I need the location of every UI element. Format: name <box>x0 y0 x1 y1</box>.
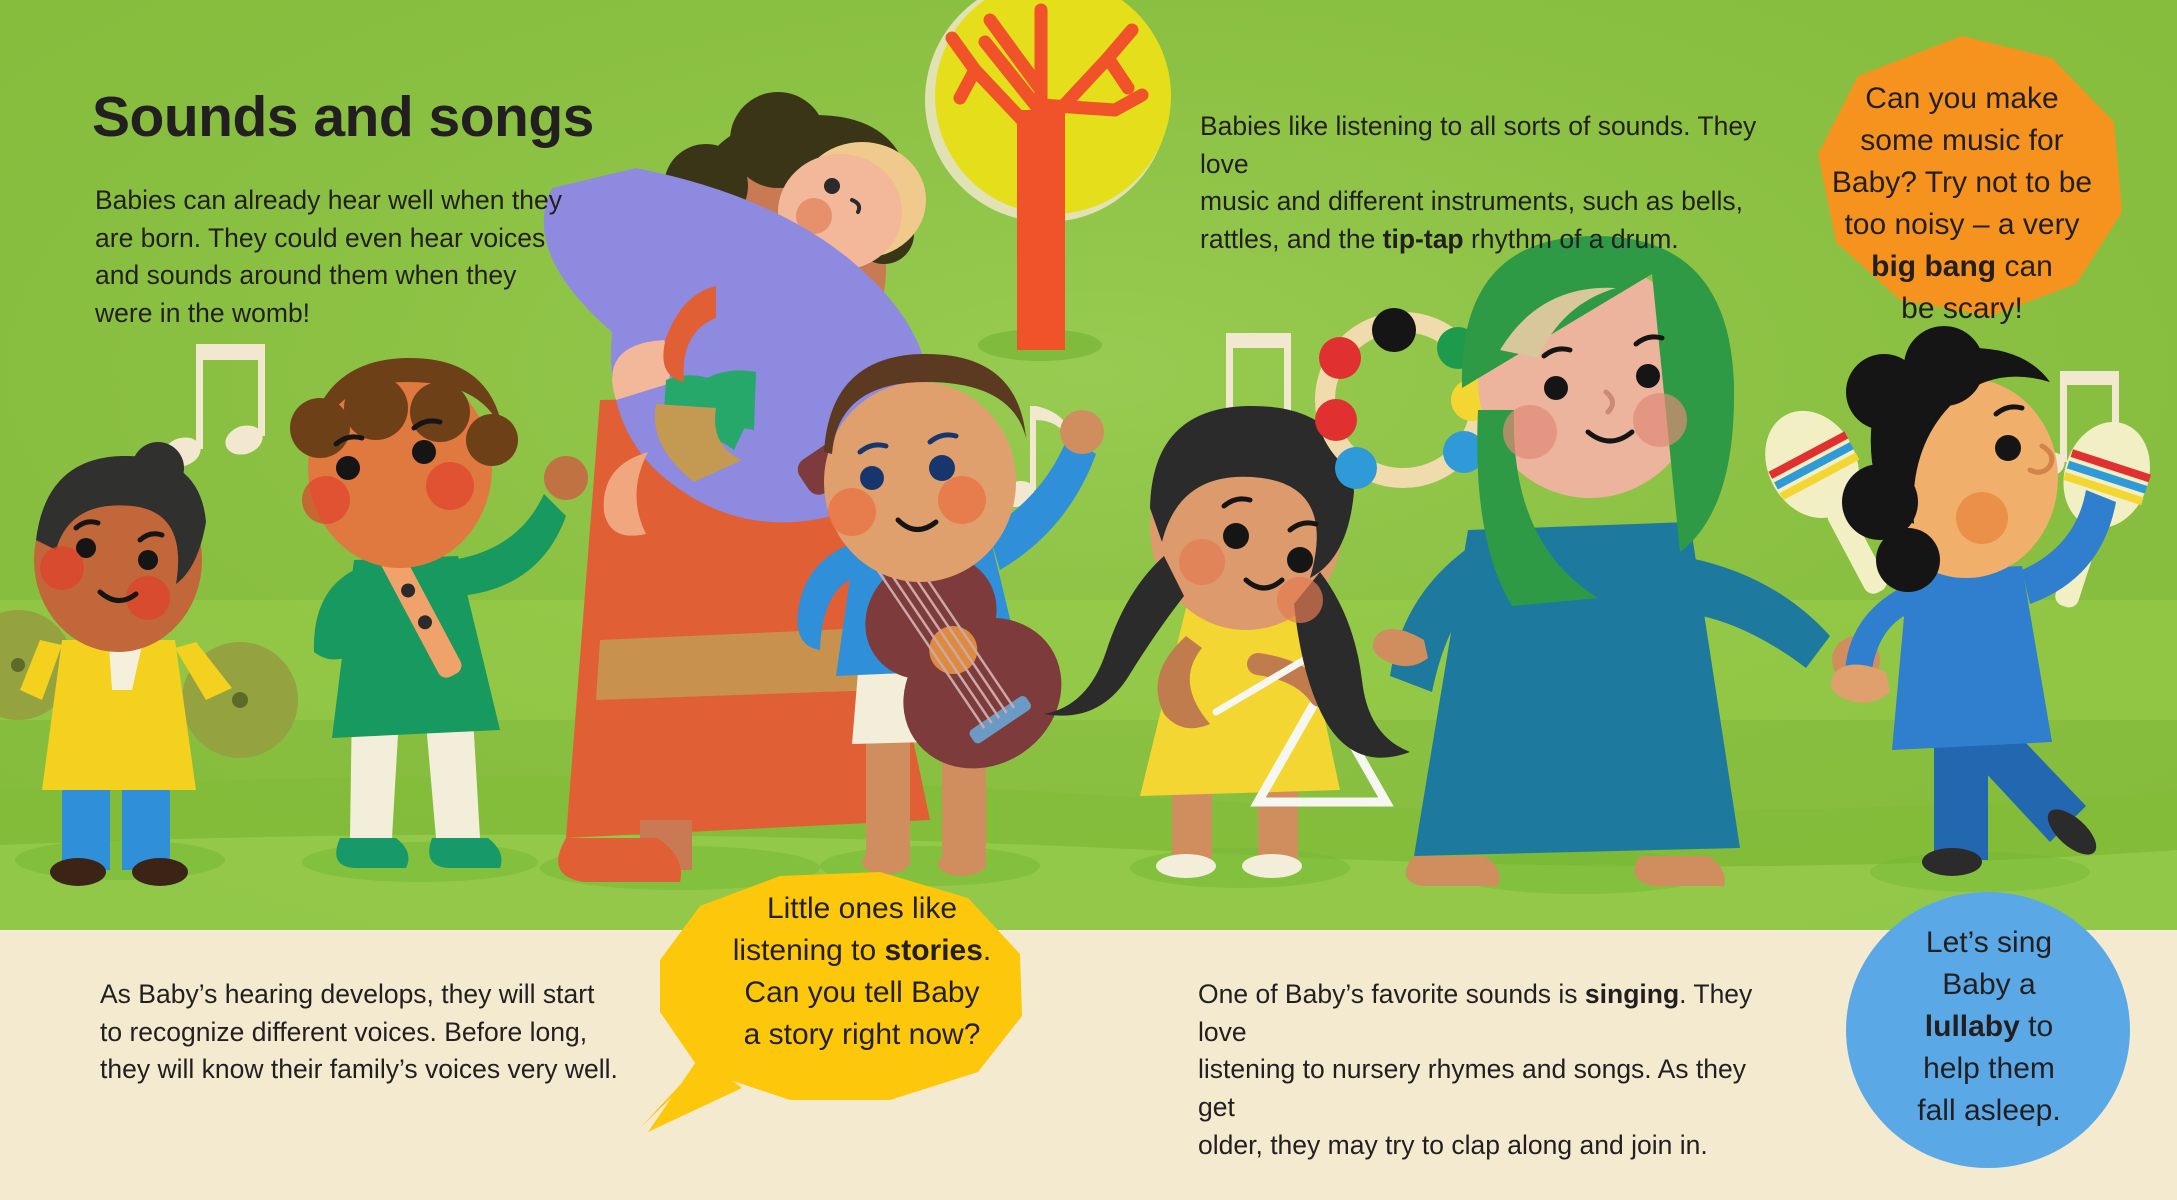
sounds-bold-tip-tap: tip-tap <box>1383 224 1464 254</box>
singing-line-1-pre: One of Baby’s favorite sounds is <box>1198 979 1585 1009</box>
bubble-blue-text: Let’s sing Baby a lullaby to help them f… <box>1878 922 2100 1132</box>
singing-bold-singing: singing <box>1585 979 1679 1009</box>
yellow-line-1: Little ones like <box>767 892 957 925</box>
bubble-orange-text: Can you make some music for Baby? Try no… <box>1828 78 2096 330</box>
blue-line-4: help them <box>1923 1052 2055 1085</box>
yellow-line-4: a story right now? <box>744 1018 981 1051</box>
orange-line-3: Baby? Try not to be <box>1832 166 2092 199</box>
intro-paragraph: Babies can already hear well when they a… <box>95 182 615 333</box>
orange-line-6: be scary! <box>1901 292 2023 325</box>
sounds-line-1: Babies like listening to all sorts of so… <box>1200 111 1764 179</box>
orange-line-5-post: can <box>1996 250 2053 283</box>
intro-line-2: are born. They could even hear voices <box>95 223 545 253</box>
blue-line-3-post: to <box>2020 1010 2053 1043</box>
sounds-paragraph: Babies like listening to all sorts of so… <box>1200 108 1780 259</box>
blue-line-2: Baby a <box>1942 968 2035 1001</box>
singing-line-2: listening to nursery rhymes and songs. A… <box>1198 1054 1753 1122</box>
face <box>824 382 1016 582</box>
book-spread-page: Sounds and songs Babies can already hear… <box>0 0 2177 1200</box>
intro-line-3: and sounds around them when they <box>95 260 516 290</box>
yellow-line-2-pre: listening to <box>733 934 885 967</box>
sounds-line-3-post: rhythm of a drum. <box>1464 224 1679 254</box>
hearing-paragraph: As Baby’s hearing develops, they will st… <box>100 976 620 1089</box>
yellow-bold-stories: stories <box>885 934 983 967</box>
blue-bold-lullaby: lullaby <box>1925 1010 2020 1043</box>
hearing-line-3: they will know their family’s voices ver… <box>100 1054 618 1084</box>
sounds-line-2: music and different instruments, such as… <box>1200 186 1743 216</box>
orange-bold-big-bang: big bang <box>1871 250 1996 283</box>
yellow-line-2-post: . <box>983 934 991 967</box>
yellow-line-3: Can you tell Baby <box>744 976 979 1009</box>
intro-line-1: Babies can already hear well when they <box>95 185 562 215</box>
bubble-yellow-text: Little ones like listening to stories. C… <box>712 888 1012 1056</box>
page-title: Sounds and songs <box>92 88 792 148</box>
orange-line-1: Can you make <box>1865 82 2058 115</box>
singing-line-3: older, they may try to clap along and jo… <box>1198 1130 1708 1160</box>
hearing-line-2: to recognize different voices. Before lo… <box>100 1017 587 1047</box>
blue-line-5: fall asleep. <box>1917 1094 2060 1127</box>
orange-line-4: too noisy – a very <box>1844 208 2079 241</box>
sounds-line-3-pre: rattles, and the <box>1200 224 1383 254</box>
blue-line-1: Let’s sing <box>1926 926 2052 959</box>
intro-line-4: were in the womb! <box>95 298 310 328</box>
orange-line-2: some music for <box>1860 124 2063 157</box>
singing-paragraph: One of Baby’s favorite sounds is singing… <box>1198 976 1788 1164</box>
hearing-line-1: As Baby’s hearing develops, they will st… <box>100 979 594 1009</box>
